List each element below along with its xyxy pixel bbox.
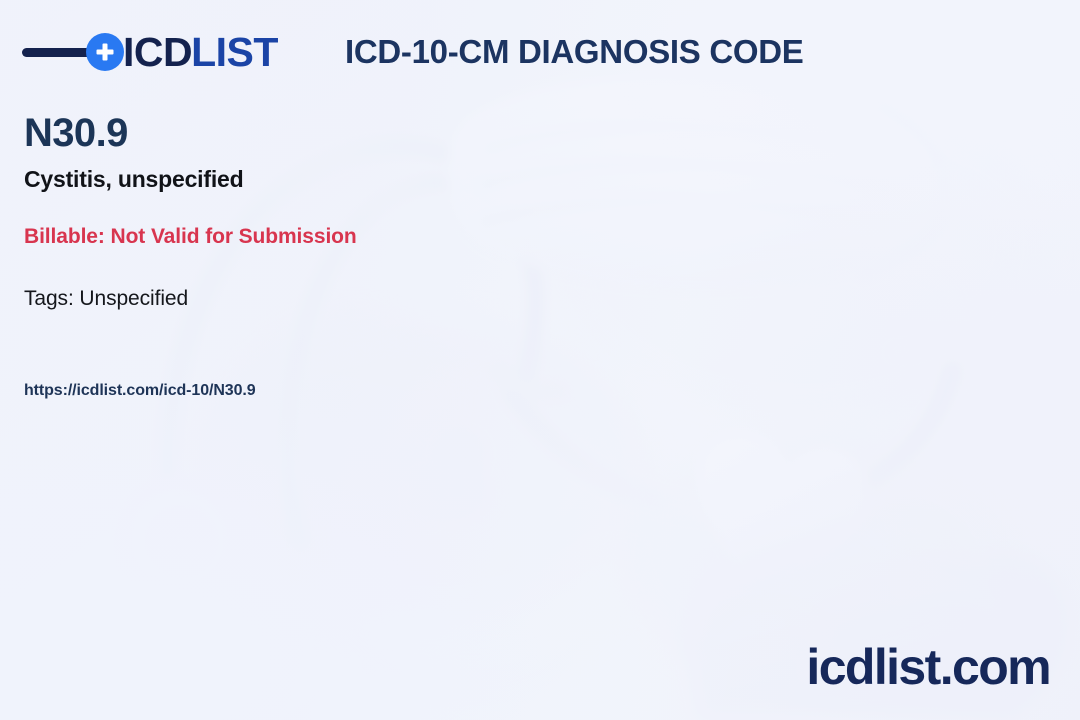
- permalink-url[interactable]: https://icdlist.com/icd-10/N30.9: [24, 381, 256, 400]
- tags-line: Tags: Unspecified: [24, 286, 188, 311]
- diagnosis-description: Cystitis, unspecified: [24, 166, 243, 194]
- logo-word-list: LIST: [191, 32, 278, 73]
- dash-icon: [22, 48, 94, 57]
- logo-word-icd: ICD: [123, 32, 192, 73]
- diagnosis-code: N30.9: [24, 112, 128, 154]
- plus-circle-icon: [86, 33, 124, 71]
- site-watermark: icdlist.com: [806, 642, 1050, 692]
- card-header: ICD LIST ICD-10-CM DIAGNOSIS CODE: [0, 0, 1080, 104]
- billable-status: Billable: Not Valid for Submission: [24, 224, 357, 249]
- page-title: ICD-10-CM DIAGNOSIS CODE: [345, 33, 804, 71]
- icdlist-logo[interactable]: ICD LIST: [22, 28, 278, 76]
- icd-code-card: ICD LIST ICD-10-CM DIAGNOSIS CODE N30.9 …: [0, 0, 1080, 720]
- card-content: ICD LIST ICD-10-CM DIAGNOSIS CODE N30.9 …: [0, 0, 1080, 720]
